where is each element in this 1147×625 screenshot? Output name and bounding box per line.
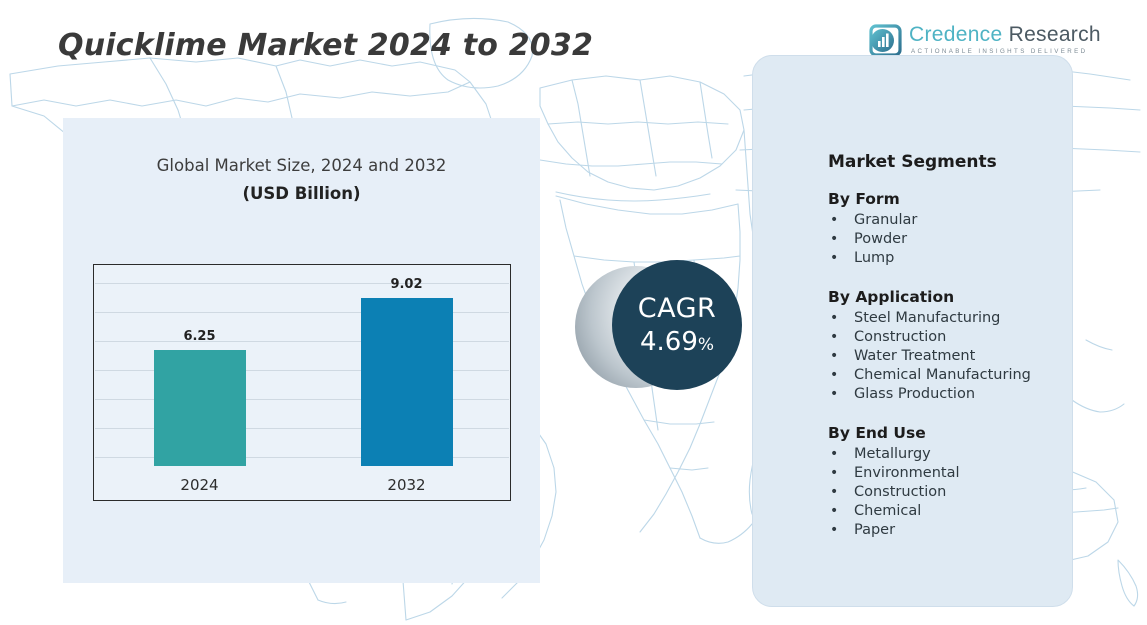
bullet-icon: •: [830, 249, 838, 268]
bar-group: 9.02: [303, 273, 510, 466]
segment-heading: By End Use: [828, 424, 1078, 442]
bar-2032: [361, 298, 453, 466]
segment-item-label: Chemical Manufacturing: [854, 367, 1031, 383]
bullet-icon: •: [830, 211, 838, 230]
bar-value-label: 6.25: [96, 329, 303, 344]
cagr-number: 4.69: [640, 327, 698, 357]
segment-item-label: Metallurgy: [854, 446, 931, 462]
segment-list-item: •Construction: [828, 328, 1078, 347]
market-segments-panel: Market Segments By Form•Granular•Powder•…: [752, 55, 1073, 607]
segment-list-item: •Chemical: [828, 502, 1078, 521]
logo-name: Credence Research: [909, 23, 1101, 47]
bullet-icon: •: [830, 309, 838, 328]
bullet-icon: •: [830, 347, 838, 366]
bar-group: 6.25: [96, 273, 303, 466]
chart-title: Global Market Size, 2024 and 2032: [63, 156, 540, 175]
bullet-icon: •: [830, 483, 838, 502]
segment-item-label: Construction: [854, 484, 946, 500]
segment-list-item: •Chemical Manufacturing: [828, 366, 1078, 385]
segment-group-by-application: By Application•Steel Manufacturing•Const…: [828, 288, 1078, 404]
bullet-icon: •: [830, 502, 838, 521]
segment-item-label: Lump: [854, 250, 894, 266]
segment-list-item: •Environmental: [828, 464, 1078, 483]
chart-subtitle: (USD Billion): [63, 184, 540, 203]
logo-name-first: Credence: [909, 23, 1002, 46]
bar-chart-circle-icon: [869, 24, 902, 57]
bullet-icon: •: [830, 328, 838, 347]
segment-list-item: •Metallurgy: [828, 445, 1078, 464]
segment-item-label: Construction: [854, 329, 946, 345]
segment-list-item: •Lump: [828, 249, 1078, 268]
segment-list-item: •Water Treatment: [828, 347, 1078, 366]
segment-item-label: Water Treatment: [854, 348, 975, 364]
cagr-unit: %: [698, 335, 714, 355]
chart-bars: 6.259.02: [94, 273, 510, 466]
cagr-circle: CAGR 4.69%: [612, 260, 742, 390]
logo-name-second: Research: [1009, 23, 1101, 46]
x-axis-label-2032: 2032: [303, 476, 510, 494]
segment-group-by-form: By Form•Granular•Powder•Lump: [828, 190, 1078, 268]
segment-item-label: Environmental: [854, 465, 960, 481]
logo-tagline: Actionable Insights Delivered: [911, 48, 1101, 55]
segment-group-by-end-use: By End Use•Metallurgy•Environmental•Cons…: [828, 424, 1078, 540]
bar-2024: [154, 350, 246, 466]
segment-heading: By Application: [828, 288, 1078, 306]
bullet-icon: •: [830, 464, 838, 483]
bullet-icon: •: [830, 521, 838, 540]
segment-list-item: •Powder: [828, 230, 1078, 249]
bullet-icon: •: [830, 230, 838, 249]
market-segments-title: Market Segments: [828, 152, 997, 172]
segment-item-label: Steel Manufacturing: [854, 310, 1000, 326]
chart-panel: Global Market Size, 2024 and 2032 (USD B…: [63, 118, 540, 583]
cagr-badge: CAGR 4.69%: [575, 258, 755, 393]
segment-heading: By Form: [828, 190, 1078, 208]
segment-item-label: Paper: [854, 522, 895, 538]
logo-text: Credence Research Actionable Insights De…: [909, 23, 1101, 55]
segment-item-label: Powder: [854, 231, 907, 247]
segment-list-item: •Granular: [828, 211, 1078, 230]
segment-list-item: •Steel Manufacturing: [828, 309, 1078, 328]
bar-value-label: 9.02: [303, 277, 510, 292]
bar-chart: 6.259.02 20242032: [93, 264, 511, 501]
cagr-label: CAGR: [638, 295, 717, 322]
x-axis-label-2024: 2024: [96, 476, 303, 494]
segment-list-item: •Glass Production: [828, 385, 1078, 404]
segment-list-item: •Paper: [828, 521, 1078, 540]
cagr-value: 4.69%: [640, 329, 714, 355]
bullet-icon: •: [830, 385, 838, 404]
bullet-icon: •: [830, 366, 838, 385]
page-title: Quicklime Market 2024 to 2032: [58, 28, 593, 63]
segment-item-label: Chemical: [854, 503, 921, 519]
segment-item-label: Glass Production: [854, 386, 975, 402]
segment-list-item: •Construction: [828, 483, 1078, 502]
segment-item-label: Granular: [854, 212, 917, 228]
infographic-canvas: Quicklime Market 2024 to 2032 Credenc: [0, 0, 1147, 625]
bullet-icon: •: [830, 445, 838, 464]
